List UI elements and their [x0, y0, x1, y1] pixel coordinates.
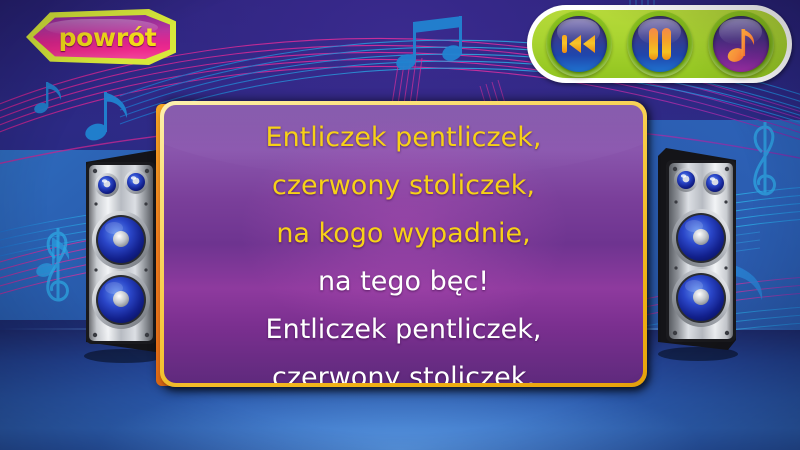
- speaker-right: [650, 146, 746, 361]
- lyric-line: Entliczek pentliczek,: [266, 114, 542, 162]
- restart-button[interactable]: [546, 11, 612, 77]
- pause-icon: [647, 27, 673, 61]
- pause-button[interactable]: [627, 11, 693, 77]
- back-button[interactable]: powrót: [26, 9, 176, 65]
- app-root: Entliczek pentliczek, czerwony stoliczek…: [0, 0, 800, 450]
- pause-button-face: [632, 16, 688, 72]
- restart-button-face: [551, 16, 607, 72]
- lyrics-panel: Entliczek pentliczek, czerwony stoliczek…: [160, 101, 647, 387]
- back-button-label: powrót: [47, 23, 157, 52]
- player-controls-panel: [532, 10, 787, 78]
- music-note-decor: [394, 16, 464, 72]
- music-button[interactable]: [708, 11, 774, 77]
- lyrics-list: Entliczek pentliczek, czerwony stoliczek…: [164, 105, 643, 383]
- lyric-line: czerwony stoliczek,: [272, 354, 535, 383]
- lyric-line: czerwony stoliczek,: [272, 162, 535, 210]
- music-note-icon: [726, 25, 756, 63]
- lyric-line: na kogo wypadnie,: [276, 210, 530, 258]
- lyric-line: Entliczek pentliczek,: [266, 306, 542, 354]
- lyric-line: na tego bęc!: [318, 258, 489, 306]
- player-controls-bar: [527, 5, 792, 83]
- lyrics-panel-body: Entliczek pentliczek, czerwony stoliczek…: [164, 105, 643, 383]
- back-button-inner: powrót: [33, 15, 170, 59]
- music-button-face: [713, 16, 769, 72]
- rewind-icon: [560, 31, 598, 57]
- treble-clef-icon: [755, 122, 775, 194]
